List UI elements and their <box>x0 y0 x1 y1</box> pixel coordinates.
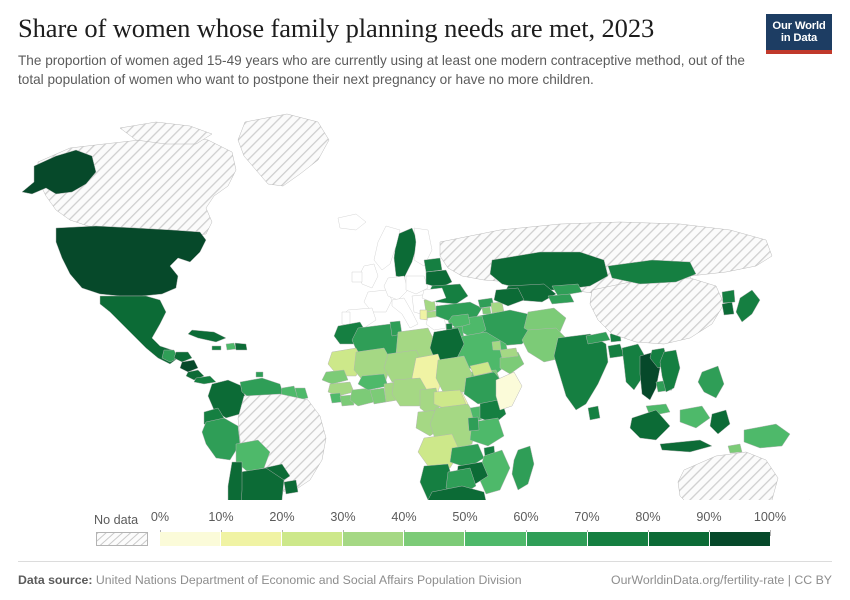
country-iceland[interactable] <box>338 214 366 230</box>
legend-bin-30-40%[interactable] <box>343 532 404 546</box>
legend-tick-mark <box>770 530 771 536</box>
country-united-states[interactable] <box>56 226 206 296</box>
legend-tick-60pct: 60% <box>513 510 538 524</box>
country-burkina-faso[interactable] <box>358 374 388 390</box>
country-uk[interactable] <box>360 264 378 288</box>
legend-bin-20-30%[interactable] <box>282 532 343 546</box>
country-chile[interactable] <box>228 462 244 500</box>
attribution-link[interactable]: OurWorldinData.org/fertility-rate | CC B… <box>611 573 832 587</box>
country-uae[interactable] <box>500 348 518 358</box>
legend-tick-100pct: 100% <box>754 510 786 524</box>
legend-tick-20pct: 20% <box>269 510 294 524</box>
country-trinidad[interactable] <box>256 372 263 377</box>
country-dominican-republic[interactable] <box>235 343 247 350</box>
owid-logo-line-1: Our World <box>772 20 825 32</box>
legend-tick-70pct: 70% <box>574 510 599 524</box>
legend-bin-50-60%[interactable] <box>465 532 526 546</box>
legend-tick-80pct: 80% <box>635 510 660 524</box>
legend-tick-40pct: 40% <box>391 510 416 524</box>
legend-bin-90-100%[interactable] <box>710 532 770 546</box>
country-honduras[interactable] <box>174 352 192 362</box>
country-haiti[interactable] <box>226 343 236 350</box>
country-south-korea[interactable] <box>722 302 734 315</box>
country-india[interactable] <box>554 334 608 410</box>
legend-tick-0pct: 0% <box>151 510 169 524</box>
country-qatar-kuwait[interactable] <box>492 341 501 350</box>
legend-color-bar[interactable] <box>160 532 770 546</box>
chart-header: Share of women whose family planning nee… <box>18 14 832 90</box>
legend-bin-40-50%[interactable] <box>404 532 465 546</box>
map-svg <box>0 100 850 500</box>
footer-divider <box>18 561 832 562</box>
world-choropleth-map[interactable] <box>0 100 850 500</box>
country-indonesia-sumatra[interactable] <box>630 410 670 440</box>
country-australia[interactable] <box>678 452 778 500</box>
country-north-korea[interactable] <box>722 290 735 303</box>
country-jamaica[interactable] <box>212 346 221 350</box>
page-title: Share of women whose family planning nee… <box>18 14 832 44</box>
country-armenia[interactable] <box>482 307 491 314</box>
country-madagascar[interactable] <box>512 446 534 490</box>
data-source-label: Data source: <box>18 573 93 587</box>
country-japan[interactable] <box>736 290 760 322</box>
country-cuba[interactable] <box>188 330 226 342</box>
data-source-text: United Nations Department of Economic an… <box>96 573 522 587</box>
owid-logo[interactable]: Our World in Data <box>766 14 832 54</box>
country-papua-new-guinea[interactable] <box>744 424 790 448</box>
legend-tick-labels: 0%10%20%30%40%50%60%70%80%90%100% <box>160 510 770 530</box>
country-rwanda-burundi[interactable] <box>468 417 479 431</box>
chart-subtitle: The proportion of women aged 15-49 years… <box>18 51 758 90</box>
country-nepal[interactable] <box>586 332 610 344</box>
country-ireland[interactable] <box>352 272 362 282</box>
data-source: Data source: United Nations Department o… <box>18 573 522 587</box>
legend-tick-90pct: 90% <box>696 510 721 524</box>
subtitle-line-1: The proportion of women aged 15-49 years… <box>18 53 684 68</box>
country-somalia[interactable] <box>496 372 522 410</box>
country-bangladesh[interactable] <box>608 344 624 358</box>
legend-inner: No data 0%10%20%30%40%50%60%70%80%90%100… <box>94 505 770 553</box>
country-indonesia-java[interactable] <box>660 440 712 452</box>
country-sri-lanka[interactable] <box>588 406 600 420</box>
owid-chart: Share of women whose family planning nee… <box>0 0 850 600</box>
country-tajikistan[interactable] <box>548 294 574 304</box>
legend-bin-60-70%[interactable] <box>527 532 588 546</box>
legend-no-data-swatch[interactable] <box>96 532 148 546</box>
legend-bin-0-10%[interactable] <box>160 532 221 546</box>
map-countries <box>22 114 814 500</box>
hatch-pattern-icon <box>97 533 147 545</box>
country-greenland[interactable] <box>238 114 329 186</box>
country-timor-leste[interactable] <box>728 444 742 453</box>
legend-no-data-label: No data <box>94 513 138 527</box>
legend-bin-70-80%[interactable] <box>588 532 649 546</box>
legend-tick-10pct: 10% <box>208 510 233 524</box>
legend-tick-30pct: 30% <box>330 510 355 524</box>
country-albania[interactable] <box>420 310 427 320</box>
legend-bin-80-90%[interactable] <box>649 532 710 546</box>
chart-footer: Data source: United Nations Department o… <box>18 569 832 591</box>
legend-tick-50pct: 50% <box>452 510 477 524</box>
legend-bin-10-20%[interactable] <box>221 532 282 546</box>
map-legend: No data 0%10%20%30%40%50%60%70%80%90%100… <box>0 505 850 553</box>
country-estonia-latvia-lithuania[interactable] <box>424 258 442 272</box>
country-kazakhstan[interactable] <box>490 252 608 290</box>
country-nicaragua[interactable] <box>180 360 198 372</box>
country-philippines[interactable] <box>698 366 724 398</box>
country-indonesia-sulawesi[interactable] <box>710 410 730 434</box>
owid-logo-line-2: in Data <box>781 32 817 44</box>
country-senegal[interactable] <box>322 370 348 384</box>
country-peru[interactable] <box>202 418 240 460</box>
country-borneo[interactable] <box>680 406 710 428</box>
country-uruguay[interactable] <box>284 480 298 494</box>
